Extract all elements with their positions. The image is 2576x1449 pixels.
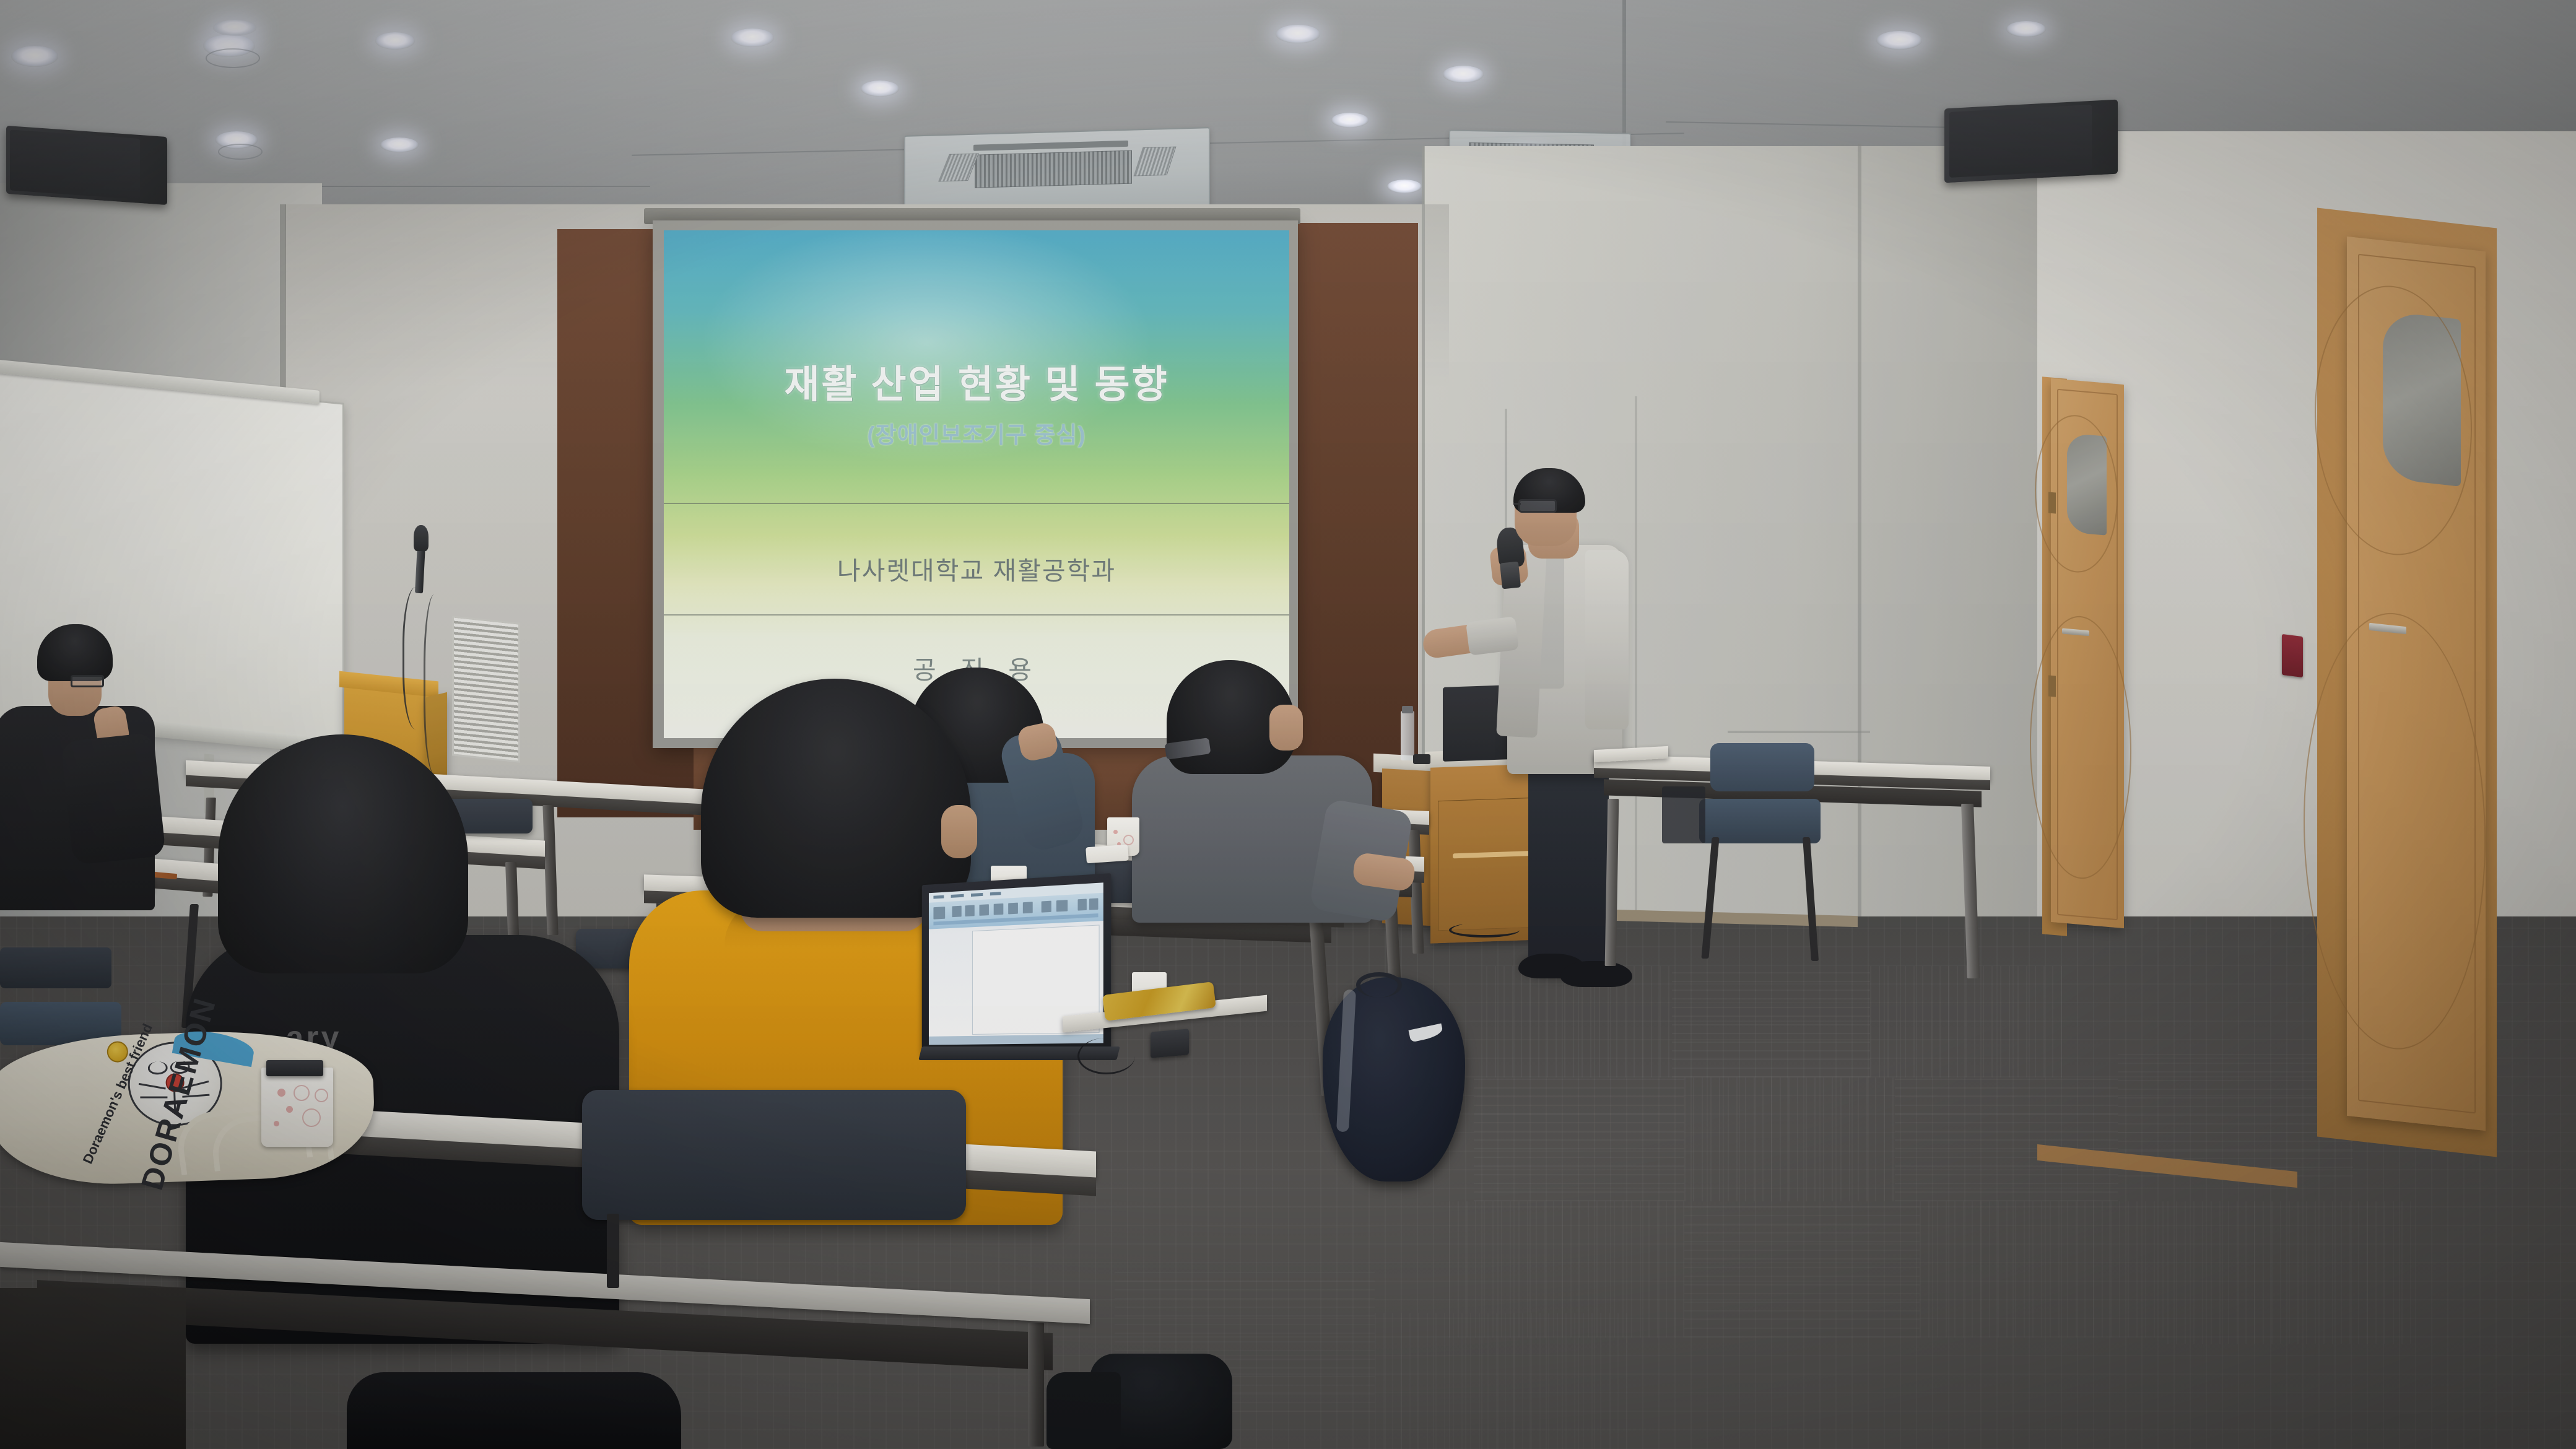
desk-device bbox=[1151, 1029, 1189, 1058]
paper-cup bbox=[261, 1068, 333, 1147]
microphone-body bbox=[1500, 562, 1521, 590]
ceiling-light bbox=[375, 32, 415, 50]
foreground-desk-edge bbox=[0, 1288, 186, 1449]
floor-cable bbox=[1449, 923, 1520, 938]
carpet-tile bbox=[1870, 966, 2068, 1077]
wall-seam bbox=[1635, 396, 1637, 941]
desk-cable bbox=[1077, 1038, 1135, 1074]
presenter-trousers bbox=[1528, 755, 1609, 966]
ceiling-light bbox=[1276, 25, 1320, 43]
wall-vent bbox=[452, 616, 520, 763]
slide-subtitle: (장애인보조기구 중심) bbox=[664, 416, 1289, 450]
attendee-eyeglasses bbox=[71, 675, 104, 687]
fire-alarm bbox=[2282, 634, 2303, 677]
swoosh-logo bbox=[1409, 1024, 1444, 1043]
attendee-gray-neck bbox=[1269, 705, 1303, 751]
attendee-arm bbox=[61, 733, 166, 866]
ceiling-light-ring bbox=[218, 144, 263, 160]
carpet-tile bbox=[1895, 1077, 2118, 1201]
attendee-dark-jacket-hair bbox=[218, 734, 468, 973]
ceiling-light bbox=[1443, 66, 1484, 83]
microphone-cable bbox=[424, 594, 450, 774]
ceiling-light-ring bbox=[206, 48, 260, 68]
chair-leg bbox=[607, 1214, 619, 1288]
backpack-strap bbox=[1336, 990, 1356, 1133]
microphone bbox=[414, 525, 429, 551]
projected-slide: 재활 산업 현황 및 동향 (장애인보조기구 중심) 나사렛대학교 재활공학과 … bbox=[664, 230, 1289, 738]
wall-speaker bbox=[1944, 100, 2118, 183]
chair-seat[interactable] bbox=[0, 947, 111, 988]
door-near[interactable] bbox=[2347, 237, 2486, 1131]
slide-title: 재활 산업 현황 및 동향 bbox=[664, 353, 1289, 409]
floor-bag-side bbox=[1046, 1372, 1121, 1449]
carpet-tile bbox=[1920, 1201, 2167, 1338]
ceiling-air-conditioner bbox=[904, 127, 1210, 215]
napkin bbox=[1086, 845, 1129, 864]
slide-organization: 나사렛대학교 재활공학과 bbox=[664, 550, 1289, 587]
ceiling-light bbox=[380, 137, 419, 152]
presenter-shoe bbox=[1560, 961, 1632, 987]
carpet-tile bbox=[2167, 1201, 2415, 1344]
wall-speaker bbox=[6, 126, 167, 205]
presenter-eyeglasses bbox=[1518, 499, 1557, 513]
chair-back-foreground[interactable] bbox=[582, 1090, 966, 1220]
eyeglasses-temple bbox=[1513, 503, 1521, 505]
ceiling-light bbox=[861, 80, 899, 97]
chair-shadow-block bbox=[1662, 786, 1705, 843]
chair-blue-back[interactable] bbox=[1710, 743, 1814, 791]
bottle-cap bbox=[1402, 706, 1413, 713]
ceiling-light bbox=[213, 20, 256, 36]
backpack bbox=[1323, 977, 1465, 1181]
carpet-tile bbox=[1375, 1313, 1635, 1449]
presenter-arm-right bbox=[1585, 550, 1629, 729]
carpet-tile bbox=[1672, 966, 1870, 1077]
attendee-orange-ear bbox=[941, 805, 977, 858]
ceiling-light bbox=[11, 46, 58, 67]
ceiling-light bbox=[1876, 31, 1922, 50]
ceiling-light bbox=[731, 28, 774, 47]
desk-leg bbox=[1028, 1323, 1044, 1447]
wall-seam bbox=[1728, 731, 1870, 733]
ceiling-light bbox=[2006, 21, 2046, 37]
lecture-room-photo: 재활 산업 현황 및 동향 (장애인보조기구 중심) 나사렛대학교 재활공학과 … bbox=[0, 0, 2576, 1449]
carpet-tile bbox=[1684, 1201, 1920, 1338]
door-far[interactable] bbox=[2051, 378, 2124, 928]
small-device bbox=[1413, 754, 1430, 764]
foreground-person-shoulder bbox=[347, 1372, 681, 1449]
phone-in-cup bbox=[266, 1060, 323, 1076]
presenter-cuff bbox=[1466, 616, 1519, 655]
ceiling-light bbox=[1387, 180, 1422, 193]
carpet-tile bbox=[1474, 1077, 1684, 1201]
ceiling-light bbox=[1331, 113, 1368, 128]
water-bottle bbox=[1401, 711, 1414, 760]
backpack-loop bbox=[1356, 972, 1402, 998]
carpet-tile bbox=[1684, 1077, 1895, 1201]
